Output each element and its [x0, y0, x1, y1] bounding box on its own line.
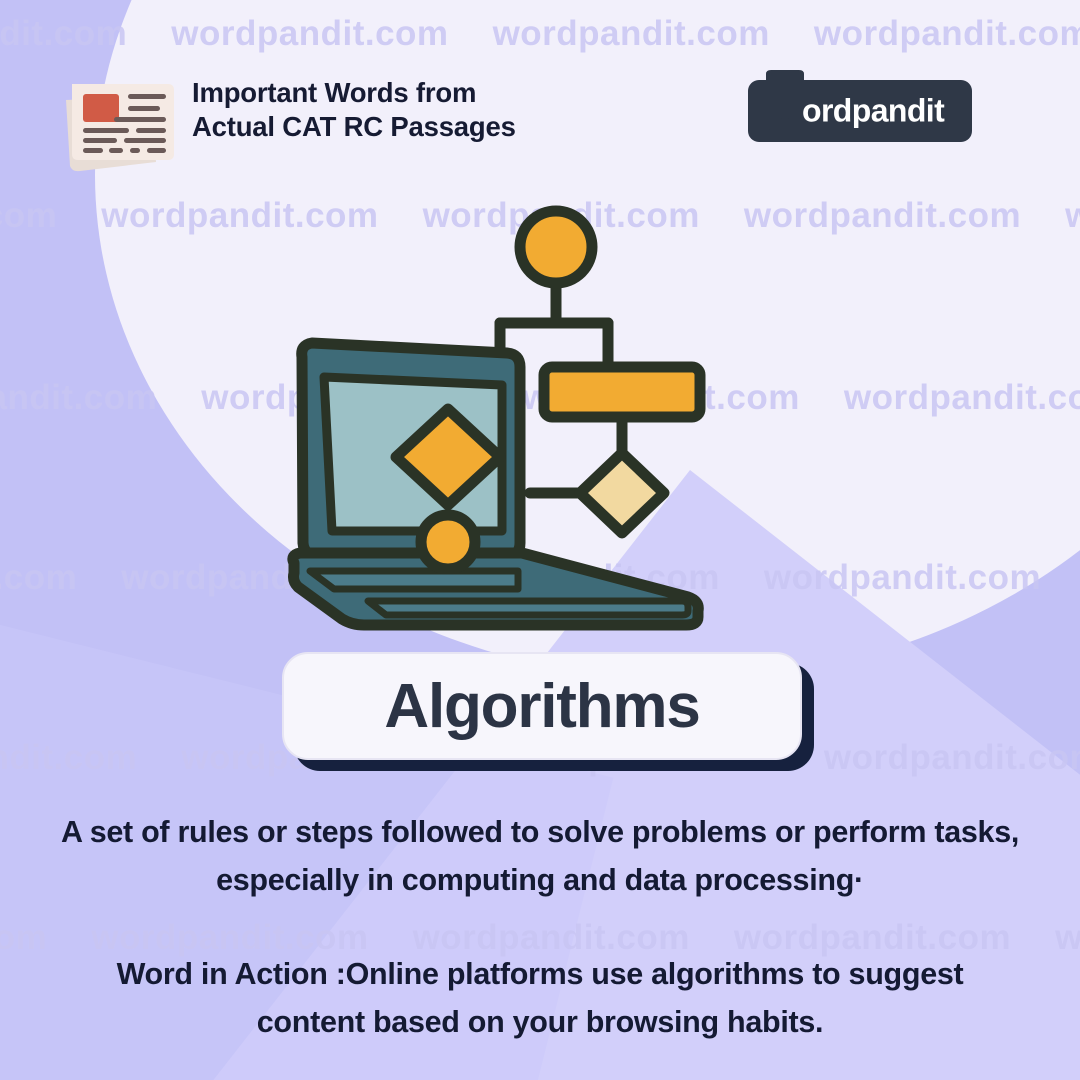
word-badge-body: Algorithms	[282, 652, 802, 760]
newspaper-icon	[52, 70, 180, 174]
word-definition: A set of rules or steps followed to solv…	[60, 808, 1020, 904]
poster-canvas: wordpandit.comwordpandit.comwordpandit.c…	[0, 0, 1080, 1080]
word-badge: Algorithms	[282, 652, 802, 760]
wordpandit-logo[interactable]: ordpandit	[748, 80, 972, 142]
word-usage: Word in Action :Online platforms use alg…	[60, 950, 1020, 1046]
logo-text: ordpandit	[802, 93, 944, 130]
header-title: Important Words from Actual CAT RC Passa…	[192, 76, 516, 143]
header-title-line1: Important Words from	[192, 76, 516, 110]
laptop-flowchart-illustration	[272, 205, 712, 635]
header-title-line2: Actual CAT RC Passages	[192, 110, 516, 144]
laptop-base	[293, 553, 698, 625]
header: Important Words from Actual CAT RC Passa…	[0, 62, 1080, 172]
word-term: Algorithms	[384, 671, 699, 742]
